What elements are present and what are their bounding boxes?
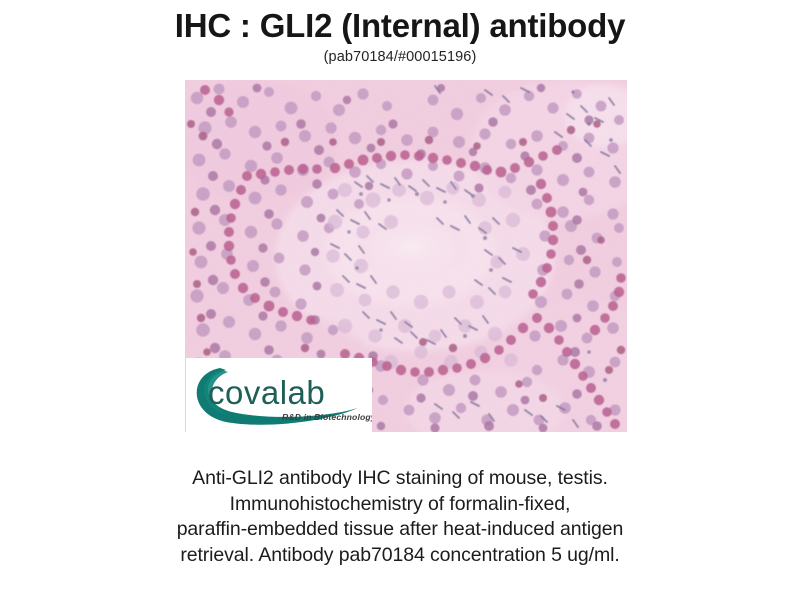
header: IHC : GLI2 (Internal) antibody (pab70184… [0,0,800,66]
caption-line-1: Anti-GLI2 antibody IHC staining of mouse… [50,466,750,492]
covalab-wordmark: covalab [208,374,325,411]
caption-line-4: retrieval. Antibody pab70184 concentrati… [50,543,750,569]
micrograph-figure: covalab R&D in Biotechnology [185,80,627,432]
product-image-page: IHC : GLI2 (Internal) antibody (pab70184… [0,0,800,600]
page-title: IHC : GLI2 (Internal) antibody [0,6,800,46]
caption-line-2: Immunohistochemistry of formalin-fixed, [50,492,750,518]
caption-line-3: paraffin-embedded tissue after heat-indu… [50,517,750,543]
covalab-logo-icon: covalab R&D in Biotechnology [186,358,372,432]
figure-caption: Anti-GLI2 antibody IHC staining of mouse… [50,466,750,568]
covalab-watermark: covalab R&D in Biotechnology [186,358,372,432]
covalab-tagline: R&D in Biotechnology [282,412,372,422]
page-subtitle-catalog-number: (pab70184/#00015196) [0,48,800,66]
